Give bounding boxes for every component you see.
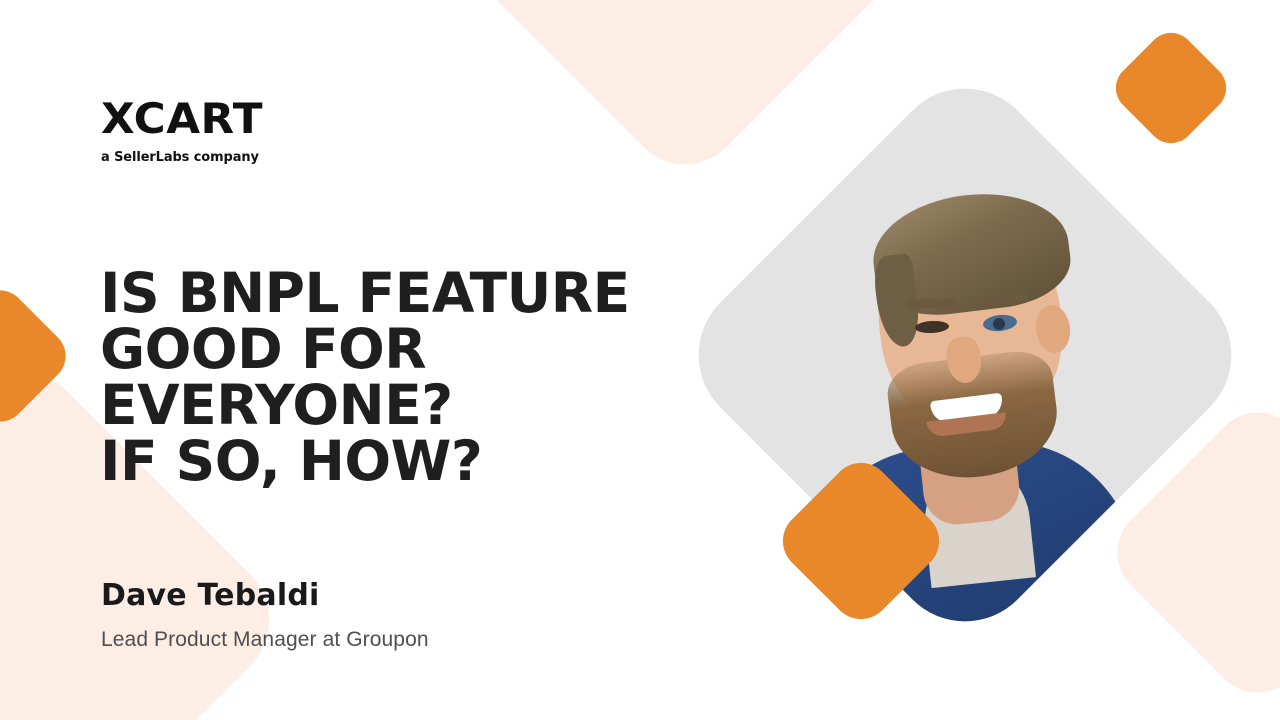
portrait-image xyxy=(755,145,1175,565)
speaker-role: Lead Product Manager at Groupon xyxy=(101,628,429,652)
speaker-name: Dave Tebaldi xyxy=(101,578,429,614)
slide-title: IS BNPL FEATURE GOOD FOR EVERYONE? IF SO… xyxy=(100,265,740,489)
photo-eyebrow-left xyxy=(905,298,957,309)
title-line-4: IF SO, HOW? xyxy=(100,433,740,489)
logo-tagline: a SellerLabs company xyxy=(101,149,259,165)
speaker-block: Dave Tebaldi Lead Product Manager at Gro… xyxy=(101,578,429,652)
portrait-frame xyxy=(668,58,1262,652)
photo-pupil-right xyxy=(993,318,1005,330)
xcart-logo: XCART a SellerLabs company xyxy=(101,98,265,165)
title-line-2: GOOD FOR xyxy=(100,321,740,377)
orange-diamond-left-edge-decoration xyxy=(0,280,76,433)
orange-diamond-top-right-decoration xyxy=(1106,23,1236,153)
title-line-1: IS BNPL FEATURE xyxy=(100,265,740,321)
title-line-3: EVERYONE? xyxy=(100,377,740,433)
peach-diamond-top-decoration xyxy=(452,0,919,188)
webinar-title-slide: XCART a SellerLabs company IS BNPL FEATU… xyxy=(0,0,1280,720)
logo-wordmark: XCART xyxy=(101,98,272,140)
speaker-photo xyxy=(755,145,1175,565)
